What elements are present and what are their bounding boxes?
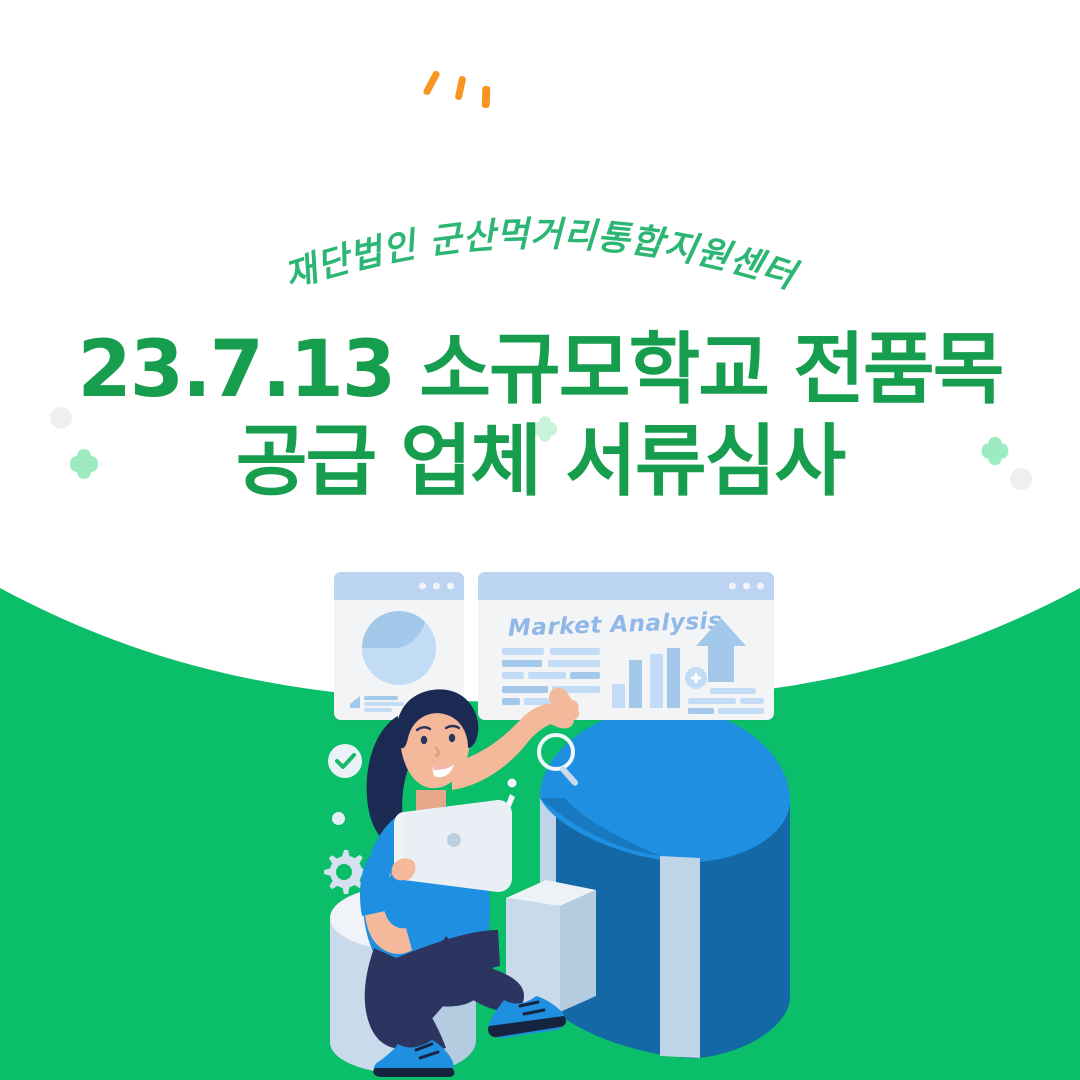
window-dot-2-icon bbox=[433, 583, 440, 590]
window-dot-2-icon bbox=[743, 583, 750, 590]
small-dot-icon bbox=[332, 812, 345, 825]
svg-text:재단법인 군산먹거리통합지원센터: 재단법인 군산먹거리통합지원센터 bbox=[280, 215, 803, 298]
magnifier-icon bbox=[534, 730, 590, 788]
market-window-titlebar bbox=[478, 572, 774, 600]
title-line-2: 공급 업체 서류심사 bbox=[0, 416, 1080, 508]
market-window[interactable]: Market Analysis bbox=[478, 572, 774, 720]
spark-mark-2-icon bbox=[455, 76, 467, 101]
window-dot-1-icon bbox=[729, 583, 736, 590]
pie-window[interactable] bbox=[334, 572, 464, 720]
page-title: 23.7.13 소규모학교 전품목 공급 업체 서류심사 bbox=[0, 324, 1080, 508]
pen-icon bbox=[496, 776, 522, 834]
check-circle-icon bbox=[326, 742, 364, 780]
market-window-dots bbox=[729, 583, 764, 590]
spark-decoration-group bbox=[424, 66, 514, 116]
arc-text-label: 재단법인 군산먹거리통합지원센터 bbox=[280, 215, 803, 298]
pie-window-dots bbox=[419, 583, 454, 590]
spark-mark-3-icon bbox=[482, 86, 491, 108]
window-dot-3-icon bbox=[757, 583, 764, 590]
pie-window-chart bbox=[334, 600, 464, 720]
market-window-content bbox=[478, 600, 774, 720]
title-line-1: 23.7.13 소규모학교 전품목 bbox=[0, 324, 1080, 416]
arched-organization-name: 재단법인 군산먹거리통합지원센터 bbox=[0, 196, 1080, 316]
gear-icon bbox=[318, 846, 370, 898]
window-dot-3-icon bbox=[447, 583, 454, 590]
spark-mark-1-icon bbox=[422, 70, 440, 96]
poster-canvas: 재단법인 군산먹거리통합지원센터 23.7.13 소규모학교 전품목 공급 업체… bbox=[0, 0, 1080, 1080]
pie-window-titlebar bbox=[334, 572, 464, 600]
green-background-shape bbox=[0, 0, 1080, 1080]
window-dot-1-icon bbox=[419, 583, 426, 590]
